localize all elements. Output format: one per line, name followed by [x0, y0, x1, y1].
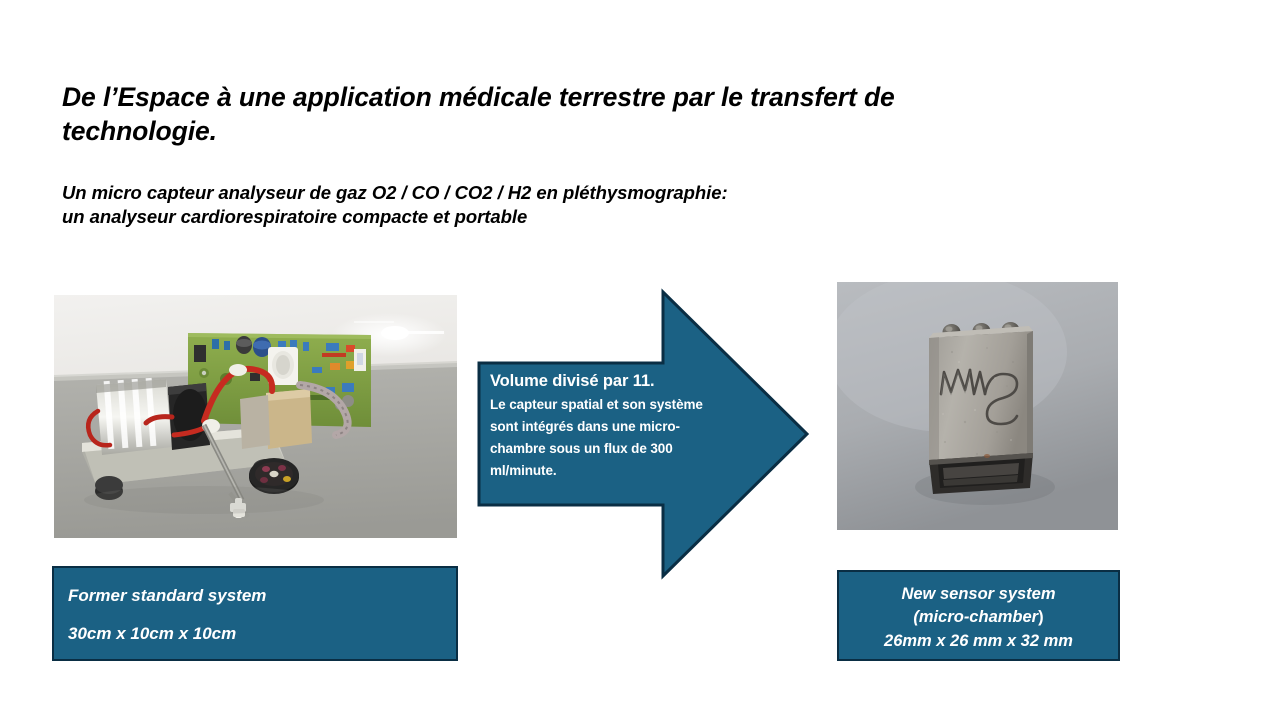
new-sensor-caption-subtitle-paren: )	[1038, 608, 1044, 626]
former-system-photo	[54, 295, 457, 538]
arrow-heading: Volume divisé par 11.	[490, 370, 730, 392]
slide-canvas: De l’Espace à une application médicale t…	[0, 0, 1280, 720]
subtitle-line-2: un analyseur cardiorespiratoire compacte…	[62, 205, 992, 229]
new-sensor-caption-subtitle: (micro-chamber)	[839, 606, 1118, 629]
new-sensor-photo	[837, 282, 1118, 530]
former-system-caption: Former standard system 30cm x 10cm x 10c…	[52, 566, 458, 661]
arrow-body-text: Le capteur spatial et son système sont i…	[490, 394, 730, 481]
arrow-text-block: Volume divisé par 11. Le capteur spatial…	[490, 370, 730, 482]
new-sensor-caption-dimensions: 26mm x 26 mm x 32 mm	[839, 630, 1118, 653]
new-sensor-caption-subtitle-text: (micro-chamber	[913, 608, 1038, 626]
former-system-caption-dimensions: 30cm x 10cm x 10cm	[68, 624, 456, 644]
page-title: De l’Espace à une application médicale t…	[62, 80, 1052, 149]
former-system-photo-graphic	[54, 295, 457, 538]
page-subtitle: Un micro capteur analyseur de gaz O2 / C…	[62, 181, 992, 230]
new-sensor-caption-title: New sensor system	[839, 583, 1118, 606]
former-system-caption-title: Former standard system	[68, 586, 456, 606]
new-sensor-photo-graphic	[837, 282, 1118, 530]
new-sensor-caption: New sensor system (micro-chamber) 26mm x…	[837, 570, 1120, 661]
subtitle-line-1: Un micro capteur analyseur de gaz O2 / C…	[62, 182, 728, 203]
